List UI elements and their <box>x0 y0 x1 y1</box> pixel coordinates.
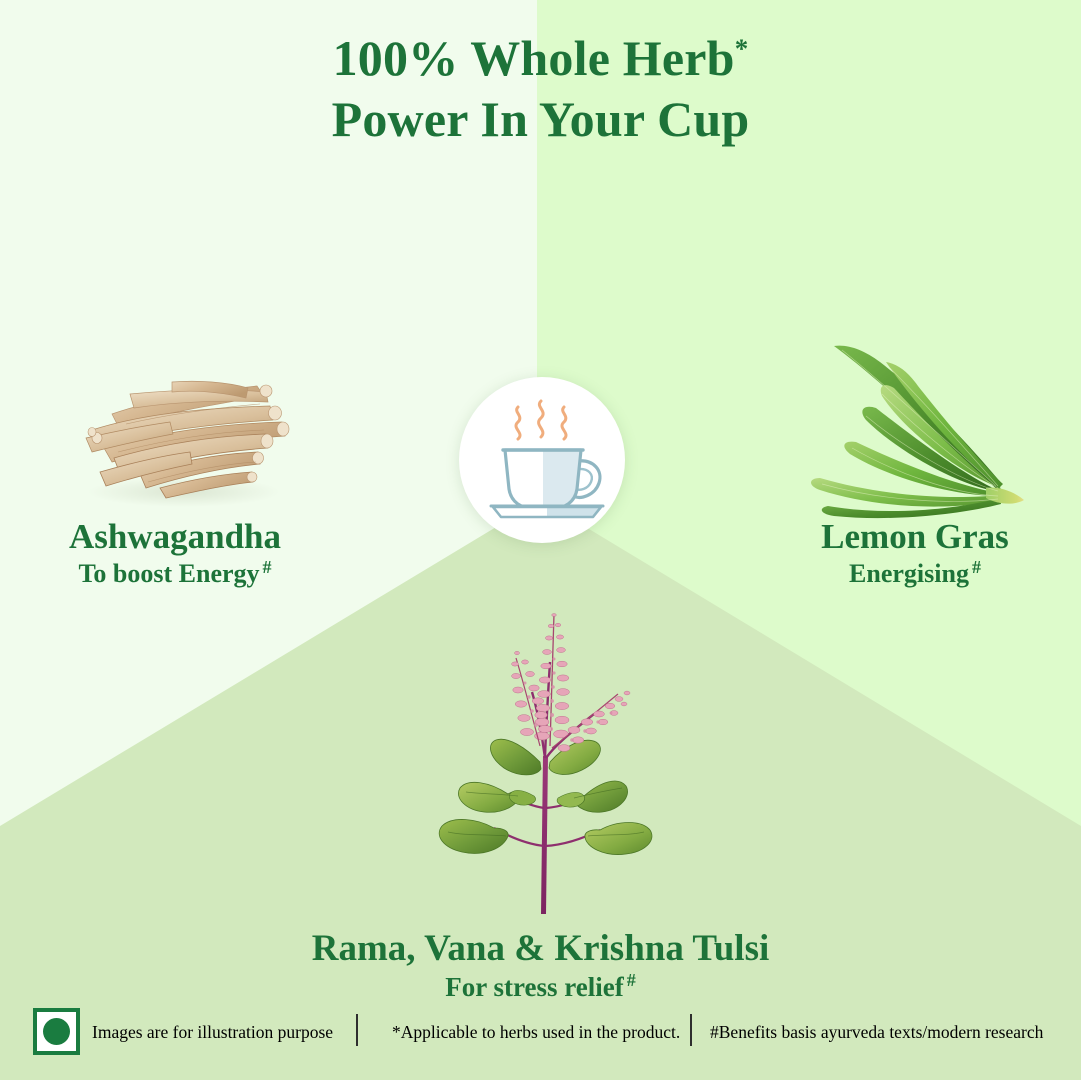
steam-icon <box>516 401 566 439</box>
herb-name-tulsi: Rama, Vana & Krishna Tulsi <box>0 928 1081 969</box>
herb-benefit-tulsi: For stress relief# <box>0 971 1081 1003</box>
headline-line-1-text: 100% Whole Herb <box>333 30 735 86</box>
headline-line-1: 100% Whole Herb* <box>0 28 1081 89</box>
vegetarian-mark-icon <box>33 1008 80 1055</box>
vegetarian-mark-dot <box>43 1018 70 1045</box>
cup-body-icon <box>505 450 581 509</box>
tea-cup-badge <box>459 377 625 543</box>
headline-line-2: Power In Your Cup <box>0 89 1081 150</box>
footer-note-hash: #Benefits basis ayurveda texts/modern re… <box>710 1022 1043 1043</box>
headline-asterisk: * <box>735 33 749 63</box>
footer-note-asterisk: *Applicable to herbs used in the product… <box>392 1022 680 1043</box>
herb-benefit-lemongrass: Energising# <box>750 558 1080 589</box>
herb-benefit-text-tulsi: For stress relief <box>445 972 623 1002</box>
footer-divider-2 <box>690 1014 692 1046</box>
page-title: 100% Whole Herb* Power In Your Cup <box>0 28 1081 150</box>
herb-name-lemongrass: Lemon Gras <box>750 517 1080 556</box>
herb-label-ashwagandha: Ashwagandha To boost Energy# <box>10 517 340 589</box>
herb-name-ashwagandha: Ashwagandha <box>10 517 340 556</box>
herb-label-tulsi: Rama, Vana & Krishna Tulsi For stress re… <box>0 928 1081 1004</box>
hash-superscript-lemongrass: # <box>969 557 981 577</box>
footer-note-illustration: Images are for illustration purpose <box>92 1022 333 1043</box>
saucer-icon <box>491 506 603 517</box>
tulsi-plant-image <box>428 596 664 922</box>
footer-divider-1 <box>356 1014 358 1046</box>
herb-label-lemongrass: Lemon Gras Energising# <box>750 517 1080 589</box>
herb-benefit-text-lemongrass: Energising <box>849 559 969 588</box>
hash-superscript-tulsi: # <box>624 970 636 990</box>
tea-cup-icon <box>459 377 625 543</box>
lemongrass-blades-image <box>790 338 1052 520</box>
hash-superscript-ashwagandha: # <box>260 557 272 577</box>
poster-canvas: 100% Whole Herb* Power In Your Cup <box>0 0 1081 1080</box>
ashwagandha-roots-image <box>52 352 314 514</box>
herb-benefit-text-ashwagandha: To boost Energy <box>78 559 259 588</box>
herb-benefit-ashwagandha: To boost Energy# <box>10 558 340 589</box>
